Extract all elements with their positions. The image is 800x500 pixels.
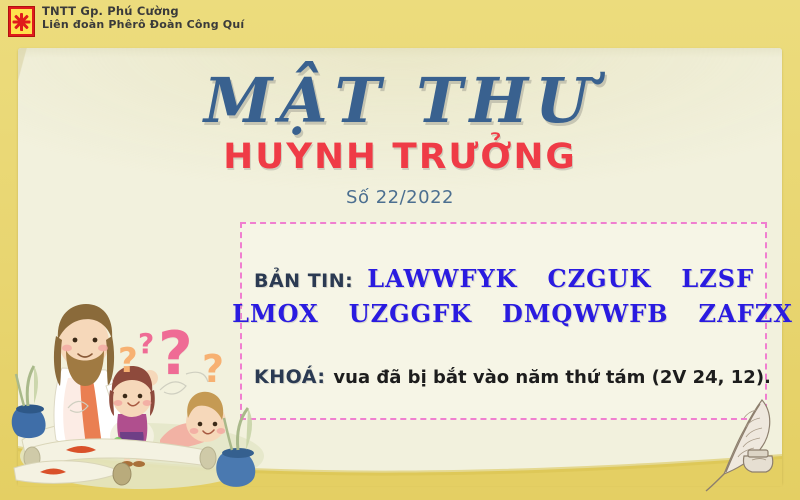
message-box: BẢN TIN: LAWWFYK CZGUK LZSF LMOX UZGGFK … xyxy=(240,222,767,420)
bulletin-label: BẢN TIN: xyxy=(254,270,353,292)
cipher-word: DMQWWFB xyxy=(502,299,669,328)
key-text: vua đã bị bắt vào năm thứ tám (2V 24, 12… xyxy=(333,367,770,388)
key-section: KHOÁ: vua đã bị bắt vào năm thứ tám (2V … xyxy=(254,366,759,388)
cipher-row-1: LAWWFYK CZGUK LZSF xyxy=(367,264,754,293)
tntt-emblem-icon xyxy=(8,6,35,37)
cipher-word: LZSF xyxy=(681,264,754,293)
page-title: MẬT THƯ xyxy=(0,70,800,132)
cipher-row-2: LMOX UZGGFK DMQWWFB ZAFZX xyxy=(254,299,757,328)
jesus-with-children-illustration xyxy=(10,290,270,495)
cipher-word: CZGUK xyxy=(547,264,651,293)
cipher-word: UZGGFK xyxy=(349,299,472,328)
question-mark-icon: ? xyxy=(118,344,138,378)
poster-canvas: TNTT Gp. Phú Cường Liên đoàn Phêrô Đoàn … xyxy=(0,0,800,500)
title-block: MẬT THƯ HUYNH TRƯỞNG Số 22/2022 xyxy=(0,70,800,208)
org-line-1: TNTT Gp. Phú Cường xyxy=(42,5,244,19)
cipher-word: LAWWFYK xyxy=(367,264,517,293)
bulletin-section: BẢN TIN: LAWWFYK CZGUK LZSF LMOX UZGGFK … xyxy=(254,264,757,328)
question-mark-icon: ? xyxy=(138,330,154,358)
question-mark-icon: ? xyxy=(158,324,193,384)
cipher-word: ZAFZX xyxy=(699,299,793,328)
issue-number: Số 22/2022 xyxy=(0,187,800,208)
page-subtitle: HUYNH TRƯỞNG xyxy=(0,140,800,175)
bulletin-row-1: BẢN TIN: LAWWFYK CZGUK LZSF xyxy=(254,264,757,293)
org-line-2: Liên đoàn Phêrô Đoàn Công Quí xyxy=(42,19,244,32)
question-mark-icon: ? xyxy=(202,350,224,388)
header-bar: TNTT Gp. Phú Cường Liên đoàn Phêrô Đoàn … xyxy=(0,0,800,46)
quill-and-inkwell-icon xyxy=(690,396,782,492)
organization-name: TNTT Gp. Phú Cường Liên đoàn Phêrô Đoàn … xyxy=(42,5,244,32)
